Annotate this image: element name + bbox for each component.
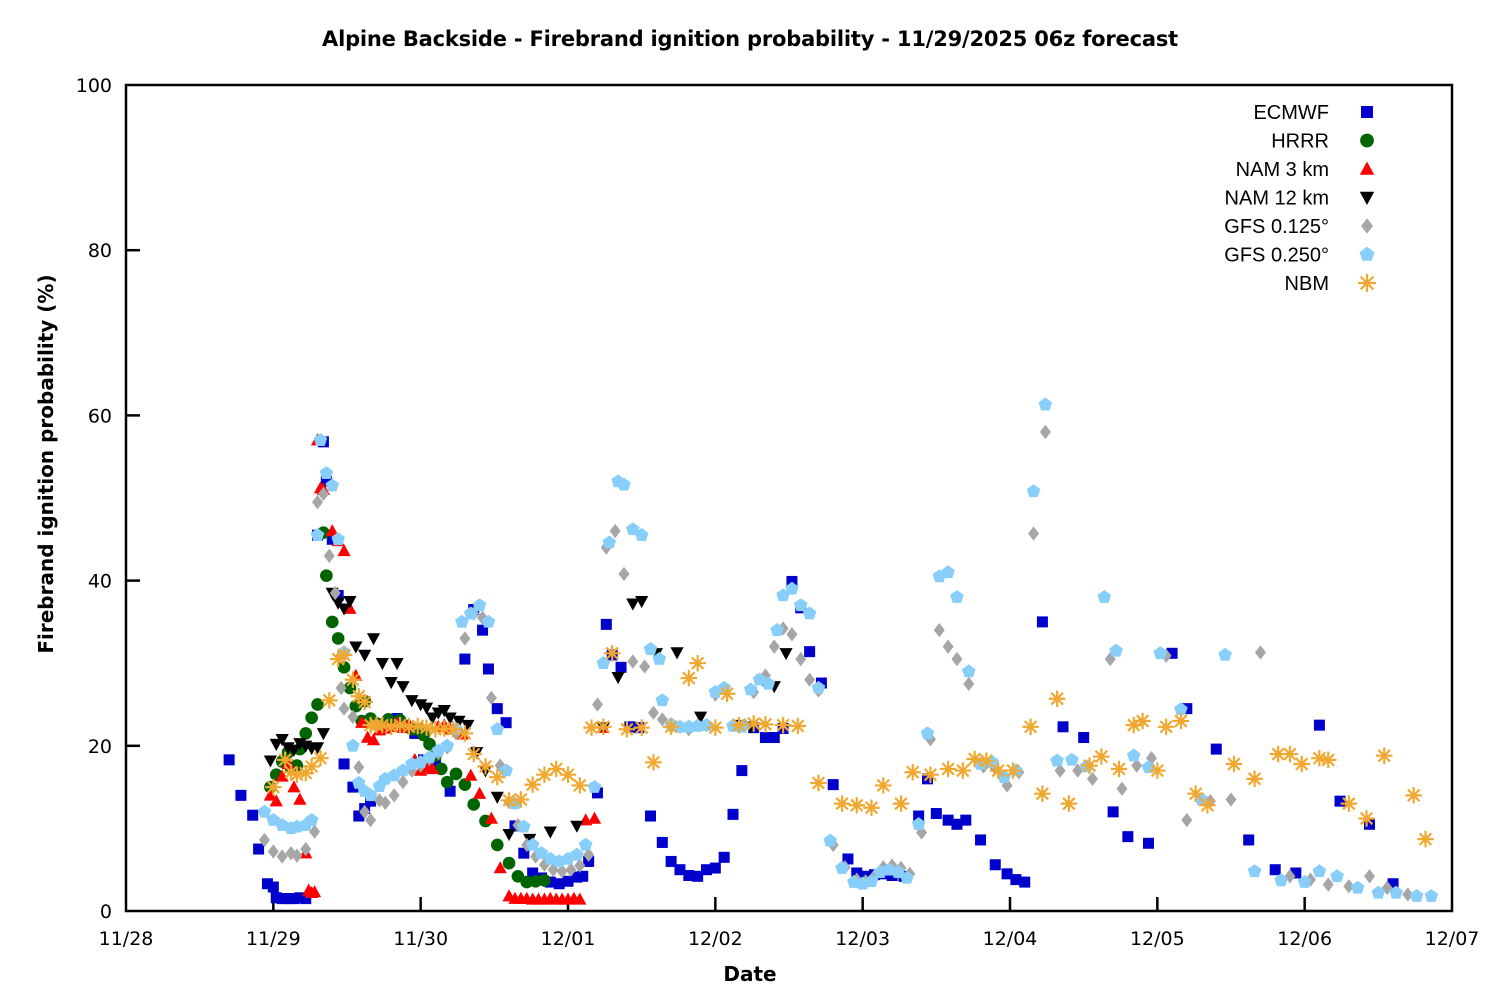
chart-container: Alpine Backside - Firebrand ignition pro… (0, 0, 1500, 1000)
svg-text:60: 60 (88, 405, 112, 427)
svg-text:100: 100 (76, 75, 112, 97)
legend-marker-ecmwf-icon (1361, 106, 1373, 118)
legend-label-ecmwf: ECMWF (1253, 102, 1329, 124)
legend-marker-hrrr-icon (1360, 134, 1374, 148)
legend: ECMWFHRRRNAM 3 kmNAM 12 kmGFS 0.125°GFS … (1224, 102, 1376, 295)
legend-label-hrrr: HRRR (1271, 131, 1329, 153)
series-nam-12-km (264, 588, 793, 846)
legend-label-nam-12-km: NAM 12 km (1225, 188, 1329, 210)
svg-text:12/01: 12/01 (541, 928, 596, 950)
legend-label-gfs-0-125: GFS 0.125° (1224, 216, 1329, 238)
legend-label-gfs-0-250: GFS 0.250° (1224, 245, 1329, 267)
legend-marker-gfs-0-250-icon (1360, 247, 1375, 261)
legend-marker-nbm-icon (1358, 274, 1376, 292)
svg-text:12/02: 12/02 (688, 928, 743, 950)
svg-text:11/30: 11/30 (393, 928, 448, 950)
legend-label-nam-3-km: NAM 3 km (1236, 159, 1329, 181)
svg-text:12/03: 12/03 (835, 928, 890, 950)
legend-label-nbm: NBM (1285, 273, 1329, 295)
svg-text:0: 0 (100, 901, 112, 923)
plot-area: 02040608010011/2811/2911/3012/0112/0212/… (0, 0, 1500, 1000)
legend-marker-nam-12-km-icon (1360, 192, 1374, 205)
svg-text:12/06: 12/06 (1277, 928, 1332, 950)
series-ecmwf (224, 436, 1399, 904)
svg-text:12/05: 12/05 (1130, 928, 1185, 950)
svg-text:80: 80 (88, 240, 112, 262)
svg-text:11/29: 11/29 (246, 928, 301, 950)
svg-text:12/07: 12/07 (1425, 928, 1480, 950)
svg-text:40: 40 (88, 571, 112, 593)
series-gfs-0-125 (259, 425, 1413, 902)
svg-text:20: 20 (88, 736, 112, 758)
svg-text:12/04: 12/04 (983, 928, 1038, 950)
legend-marker-gfs-0-125-icon (1361, 218, 1373, 234)
svg-text:11/28: 11/28 (99, 928, 154, 950)
legend-marker-nam-3-km-icon (1360, 162, 1374, 175)
data-points (224, 398, 1439, 905)
